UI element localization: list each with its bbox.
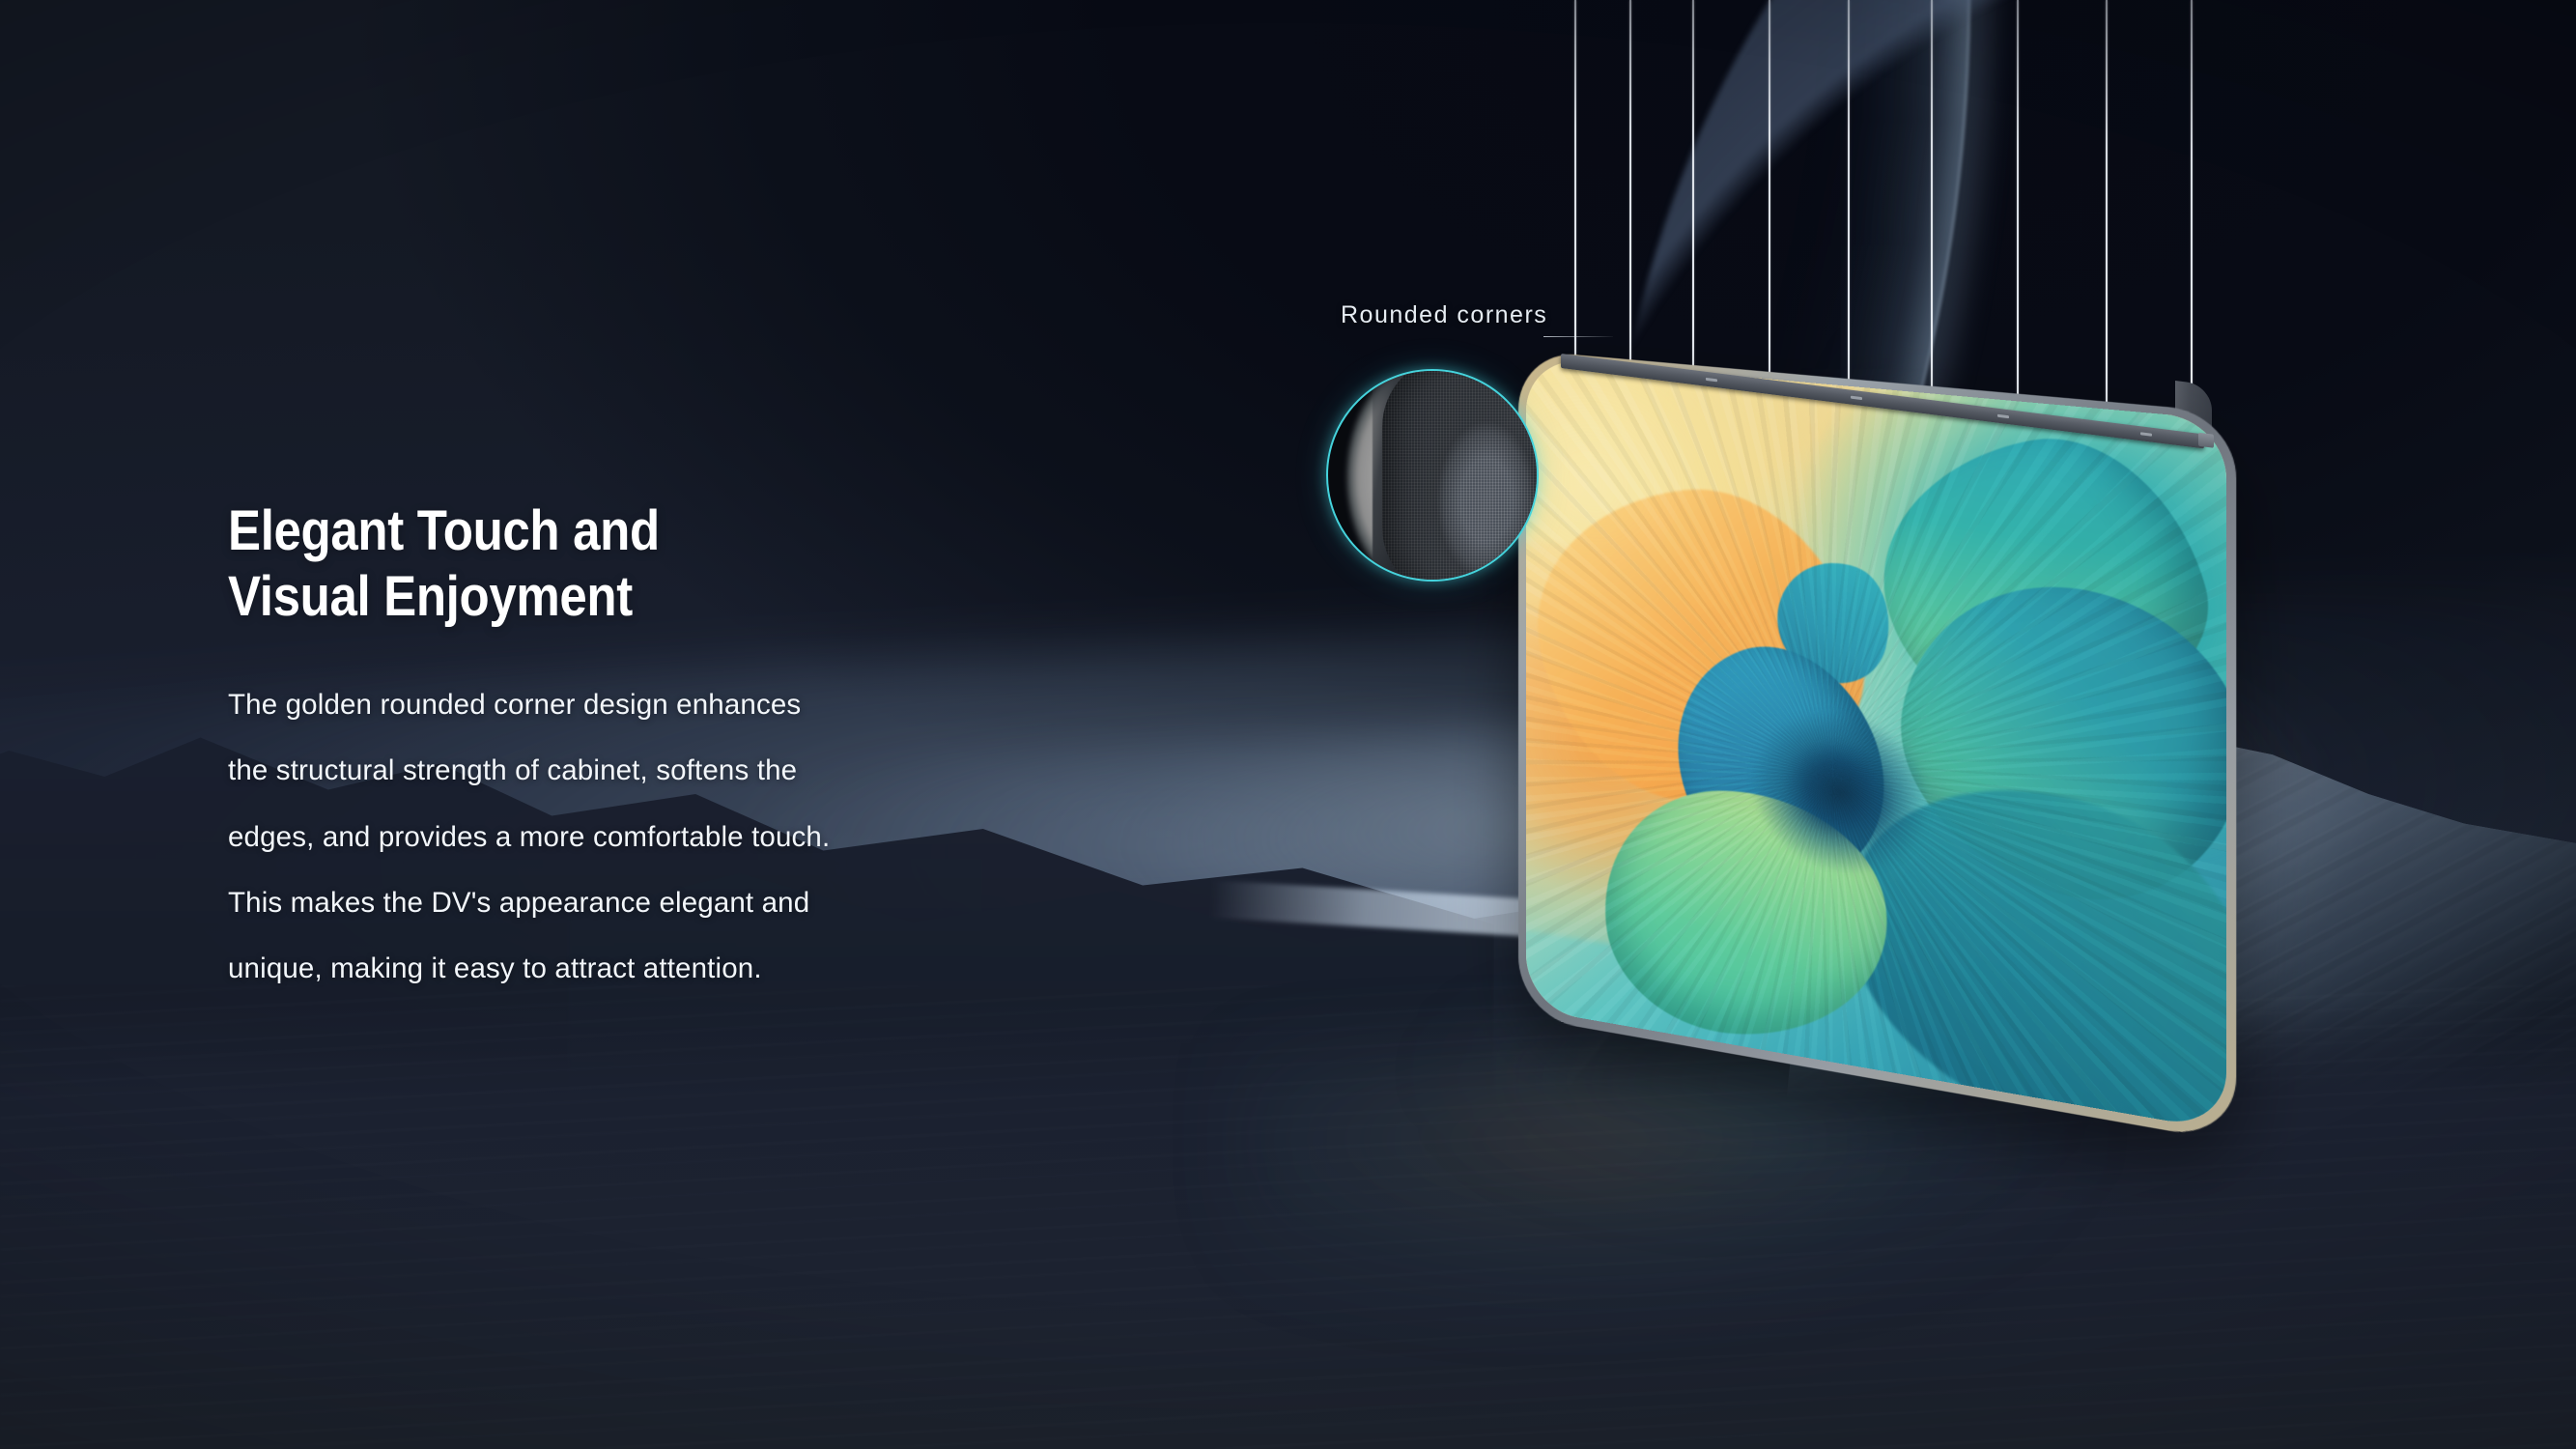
page-title: Elegant Touch and Visual Enjoyment — [228, 498, 933, 630]
copy-block: Elegant Touch and Visual Enjoyment The g… — [228, 498, 1030, 1003]
rail-end-cap — [2198, 433, 2214, 448]
led-display[interactable] — [1526, 357, 2299, 1063]
callout-leader-line — [1543, 336, 1613, 337]
screen-artwork — [1526, 357, 2226, 1131]
callout-led-mesh-panel — [1382, 369, 1539, 582]
rail-seam — [1997, 414, 2009, 419]
rail-seam — [2140, 432, 2152, 437]
callout-label: Rounded corners — [1341, 301, 1547, 329]
rounded-corner-callout[interactable] — [1326, 369, 1539, 582]
slide-canvas: Elegant Touch and Visual Enjoyment The g… — [0, 0, 2576, 1449]
rail-seam — [1706, 378, 1717, 383]
artwork-radial-rays-dark — [1526, 357, 2226, 1131]
body-paragraph: The golden rounded corner design enhance… — [228, 672, 1030, 1003]
rail-seam — [1851, 396, 1862, 401]
led-screen — [1526, 357, 2226, 1131]
